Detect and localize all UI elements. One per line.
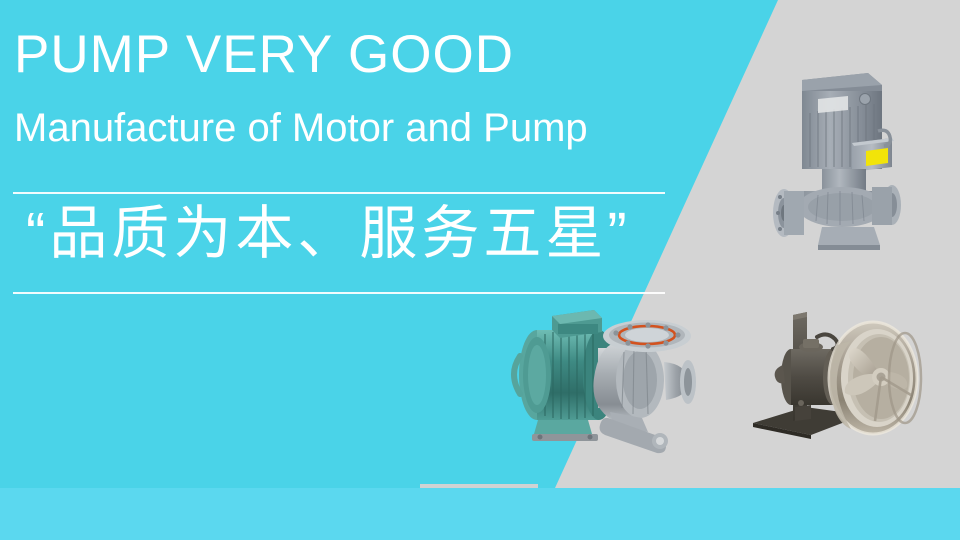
page-title: PUMP VERY GOOD [14, 28, 514, 81]
bottom-accent-bar [0, 488, 960, 540]
page-subtitle: Manufacture of Motor and Pump [14, 108, 588, 148]
horizontal-centrifugal-pump-image [490, 300, 735, 475]
promo-banner: PUMP VERY GOOD Manufacture of Motor and … [0, 0, 960, 540]
submersible-mixer-image [745, 295, 950, 460]
slogan-text: “品质为本、服务五星” [26, 201, 631, 268]
divider-line-top [13, 192, 665, 194]
vertical-inline-pump-image [760, 55, 925, 255]
divider-line-bottom [13, 292, 665, 294]
